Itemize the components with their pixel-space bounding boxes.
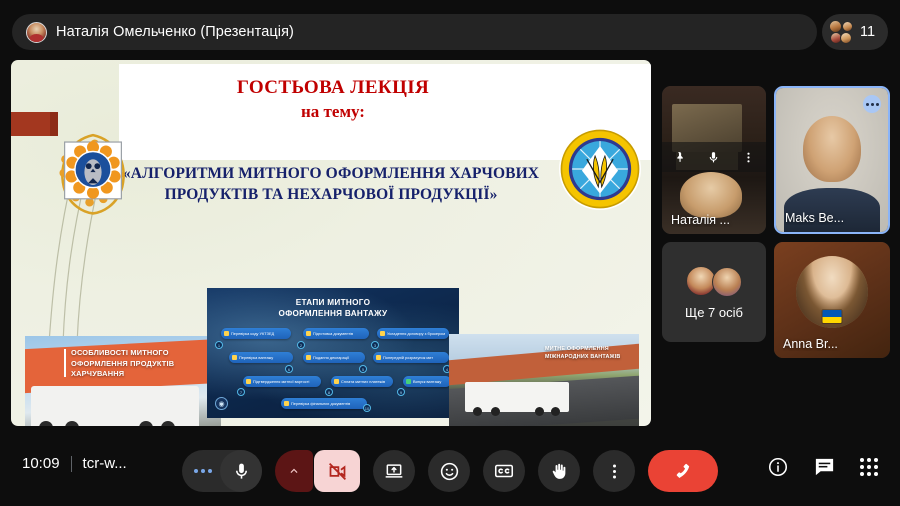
info-icon [767,456,789,478]
diagram-title-line2: ОФОРМЛЕННЯ ВАНТАЖУ [207,308,459,319]
more-vertical-icon [605,462,624,481]
diagram-step: Подання декларації [303,352,365,363]
diagram-step: Підготовка документів [303,328,369,339]
emoji-reaction-button[interactable] [428,450,470,492]
activities-button[interactable] [860,458,878,476]
tile-more-people[interactable]: Ще 7 осіб [662,242,766,342]
diagram-step: Підтвердження митної вартості [243,376,321,387]
diagram-step: Перевірка фінальних документів [281,398,367,409]
pin-icon[interactable] [673,151,686,164]
avatar [796,256,868,328]
participant-count-pill[interactable]: 11 [822,14,888,50]
diagram-step-number: 5 [359,365,367,373]
diagram-step-number: 9 [397,388,405,396]
diagram-step-number: 8 [325,388,333,396]
raise-hand-button[interactable] [538,450,580,492]
avatar-thumb [712,267,742,297]
diagram-customs-stages: ЕТАПИ МИТНОГО ОФОРМЛЕННЯ ВАНТАЖУ Перевір… [207,288,459,418]
presentation-title: Наталія Омельченко (Презентація) [56,24,294,40]
more-people-label: Ще 7 осіб [662,305,766,320]
ukraine-flag-icon [823,310,842,323]
microphone-icon[interactable] [707,151,720,164]
meeting-info-button[interactable] [767,456,789,478]
tile-name-label: Maks Be... [785,211,880,225]
slide-title: ГОСТЬОВА ЛЕКЦІЯ на тему: [123,76,543,124]
diagram-step-number: 2 [297,341,305,349]
present-screen-button[interactable] [373,450,415,492]
presentation-header[interactable]: Наталія Омельченко (Презентація) [12,14,817,50]
diagram-title-line1: ЕТАПИ МИТНОГО [207,297,459,308]
avatar-thumb [840,32,852,44]
tile-anna[interactable]: Anna Br... [774,242,890,358]
participant-count: 11 [860,24,875,40]
participant-tiles: Наталія ... Maks Be... Ще 7 осіб [662,86,890,396]
closed-captions-icon [493,460,515,482]
meet-window: Наталія Омельченко (Презентація) 11 [0,0,900,506]
meeting-toolbar: 10:09 tcr-w... [0,428,900,506]
institute-seal-emblem-icon [559,128,641,210]
captions-button[interactable] [483,450,525,492]
photo-international-customs: МИТНЕ ОФОРМЛЕННЯ МІЖНАРОДНИХ ВАНТАЖІВ [449,334,639,426]
diagram-step-number: 6 [285,365,293,373]
photo-food-customs: ОСОБЛИВОСТІ МИТНОГО ОФОРМЛЕННЯ ПРОДУКТІВ… [25,336,221,426]
present-screen-icon [384,461,404,481]
diagram-step: Укладення договору з брокером [377,328,449,339]
slide-title-line1: ГОСТЬОВА ЛЕКЦІЯ [123,76,543,100]
university-owl-emblem-icon [50,130,136,216]
slide-content: ГОСТЬОВА ЛЕКЦІЯ на тему: «АЛГОРИТМИ МИТН… [11,60,651,426]
diagram-step: Перевірка коду УКТЗЕД [221,328,291,339]
microphone-options-icon[interactable] [186,450,220,492]
diagram-step: Попередній розрахунок мит [373,352,449,363]
diagram-step: Сплата митних платежів [331,376,393,387]
tile-name-label: Anna Br... [783,337,882,351]
camera-control-group[interactable] [275,450,360,492]
avatar-thumb [842,21,853,32]
more-people-avatars [686,266,742,296]
presentation-stage[interactable]: ГОСТЬОВА ЛЕКЦІЯ на тему: «АЛГОРИТМИ МИТН… [11,60,651,426]
camera-options-chevron-up-icon[interactable] [275,450,313,492]
camera-off-button[interactable] [314,450,360,492]
diagram-step-number: 7 [237,388,245,396]
smiley-icon [439,461,460,482]
raise-hand-icon [549,461,570,482]
secondary-controls [767,455,878,478]
photo-caption-right: МИТНЕ ОФОРМЛЕННЯ МІЖНАРОДНИХ ВАНТАЖІВ [545,346,631,362]
tile-name-label: Наталія ... [671,213,758,227]
microphone-button[interactable] [220,450,262,492]
more-vertical-icon[interactable] [742,151,755,164]
more-options-button[interactable] [593,450,635,492]
diagram-title: ЕТАПИ МИТНОГО ОФОРМЛЕННЯ ВАНТАЖУ [207,297,459,319]
tile-maks[interactable]: Maks Be... [774,86,890,234]
microphone-icon [232,462,251,481]
photo-caption-left: ОСОБЛИВОСТІ МИТНОГО ОФОРМЛЕННЯ ПРОДУКТІВ… [71,348,213,380]
participant-avatar-cluster [829,20,853,44]
presenter-avatar [26,22,47,43]
phone-hangup-icon [670,458,696,484]
tile-natalia[interactable]: Наталія ... [662,86,766,234]
slide-title-line2: на тему: [123,100,543,125]
tile-controls[interactable] [662,142,766,172]
camera-off-icon [327,461,348,482]
globe-icon: ◉ [215,397,228,410]
diagram-step: Перевірка вантажу [229,352,293,363]
tile-more-options-icon[interactable] [863,95,881,113]
diagram-step-number: 1 [215,341,223,349]
call-controls [0,450,900,492]
end-call-button[interactable] [648,450,718,492]
chat-bubble-icon [813,455,836,478]
diagram-step-number: 10 [363,404,371,412]
slide-photo-row: ОСОБЛИВОСТІ МИТНОГО ОФОРМЛЕННЯ ПРОДУКТІВ… [25,288,639,418]
microphone-control-group[interactable] [182,450,262,492]
diagram-step-number: 3 [371,341,379,349]
diagram-step: Випуск вантажу [403,376,451,387]
chat-button[interactable] [813,455,836,478]
chevron-up-icon [287,464,301,478]
